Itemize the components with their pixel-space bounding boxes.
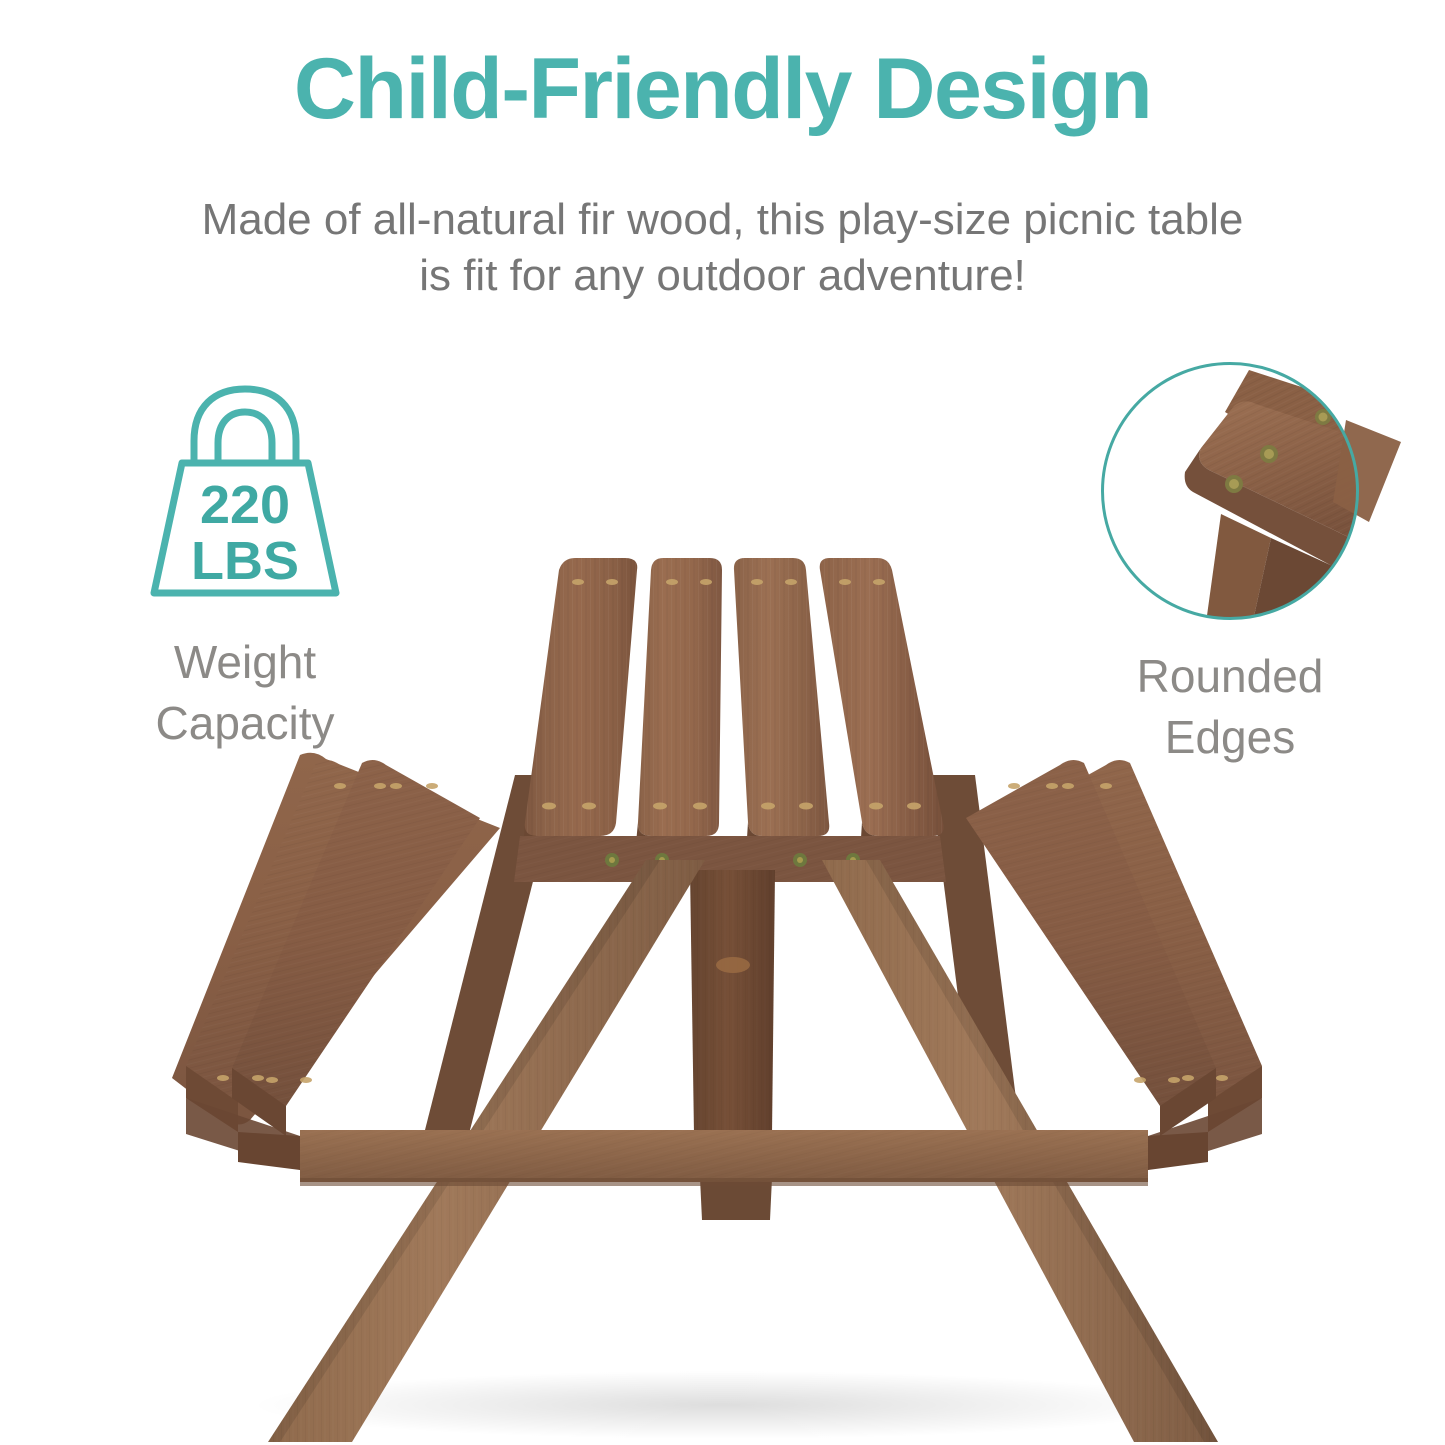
caption-line-2: Capacity <box>60 693 430 754</box>
feature-weight-capacity: 220 LBS Weight Capacity <box>60 375 430 753</box>
floor-shadow <box>252 1371 1192 1439</box>
caption-line-1: Rounded <box>1065 646 1395 707</box>
weight-value: 220 <box>200 475 290 535</box>
feature-rounded-edges-label: Rounded Edges <box>1065 646 1395 767</box>
infographic-canvas: Child-Friendly Design Made of all-natura… <box>0 0 1445 1445</box>
feature-weight-capacity-label: Weight Capacity <box>60 632 430 753</box>
caption-line-2: Edges <box>1065 707 1395 768</box>
subtitle-line-2: is fit for any outdoor adventure! <box>110 248 1335 304</box>
page-subtitle: Made of all-natural fir wood, this play-… <box>110 192 1335 305</box>
subtitle-line-1: Made of all-natural fir wood, this play-… <box>110 192 1335 248</box>
tabletop-slats <box>523 558 944 868</box>
feature-rounded-edges: Rounded Edges <box>1065 362 1395 767</box>
shopping-bag-weight-icon: 220 LBS <box>60 375 430 610</box>
wood-knot <box>716 957 750 973</box>
weight-unit: LBS <box>191 531 299 591</box>
rounded-edges-photo-inset <box>1101 362 1359 620</box>
rounded-edges-closeup-photo <box>1101 362 1359 620</box>
cross-brace <box>300 1130 1148 1186</box>
caption-line-1: Weight <box>60 632 430 693</box>
page-title: Child-Friendly Design <box>0 44 1445 134</box>
